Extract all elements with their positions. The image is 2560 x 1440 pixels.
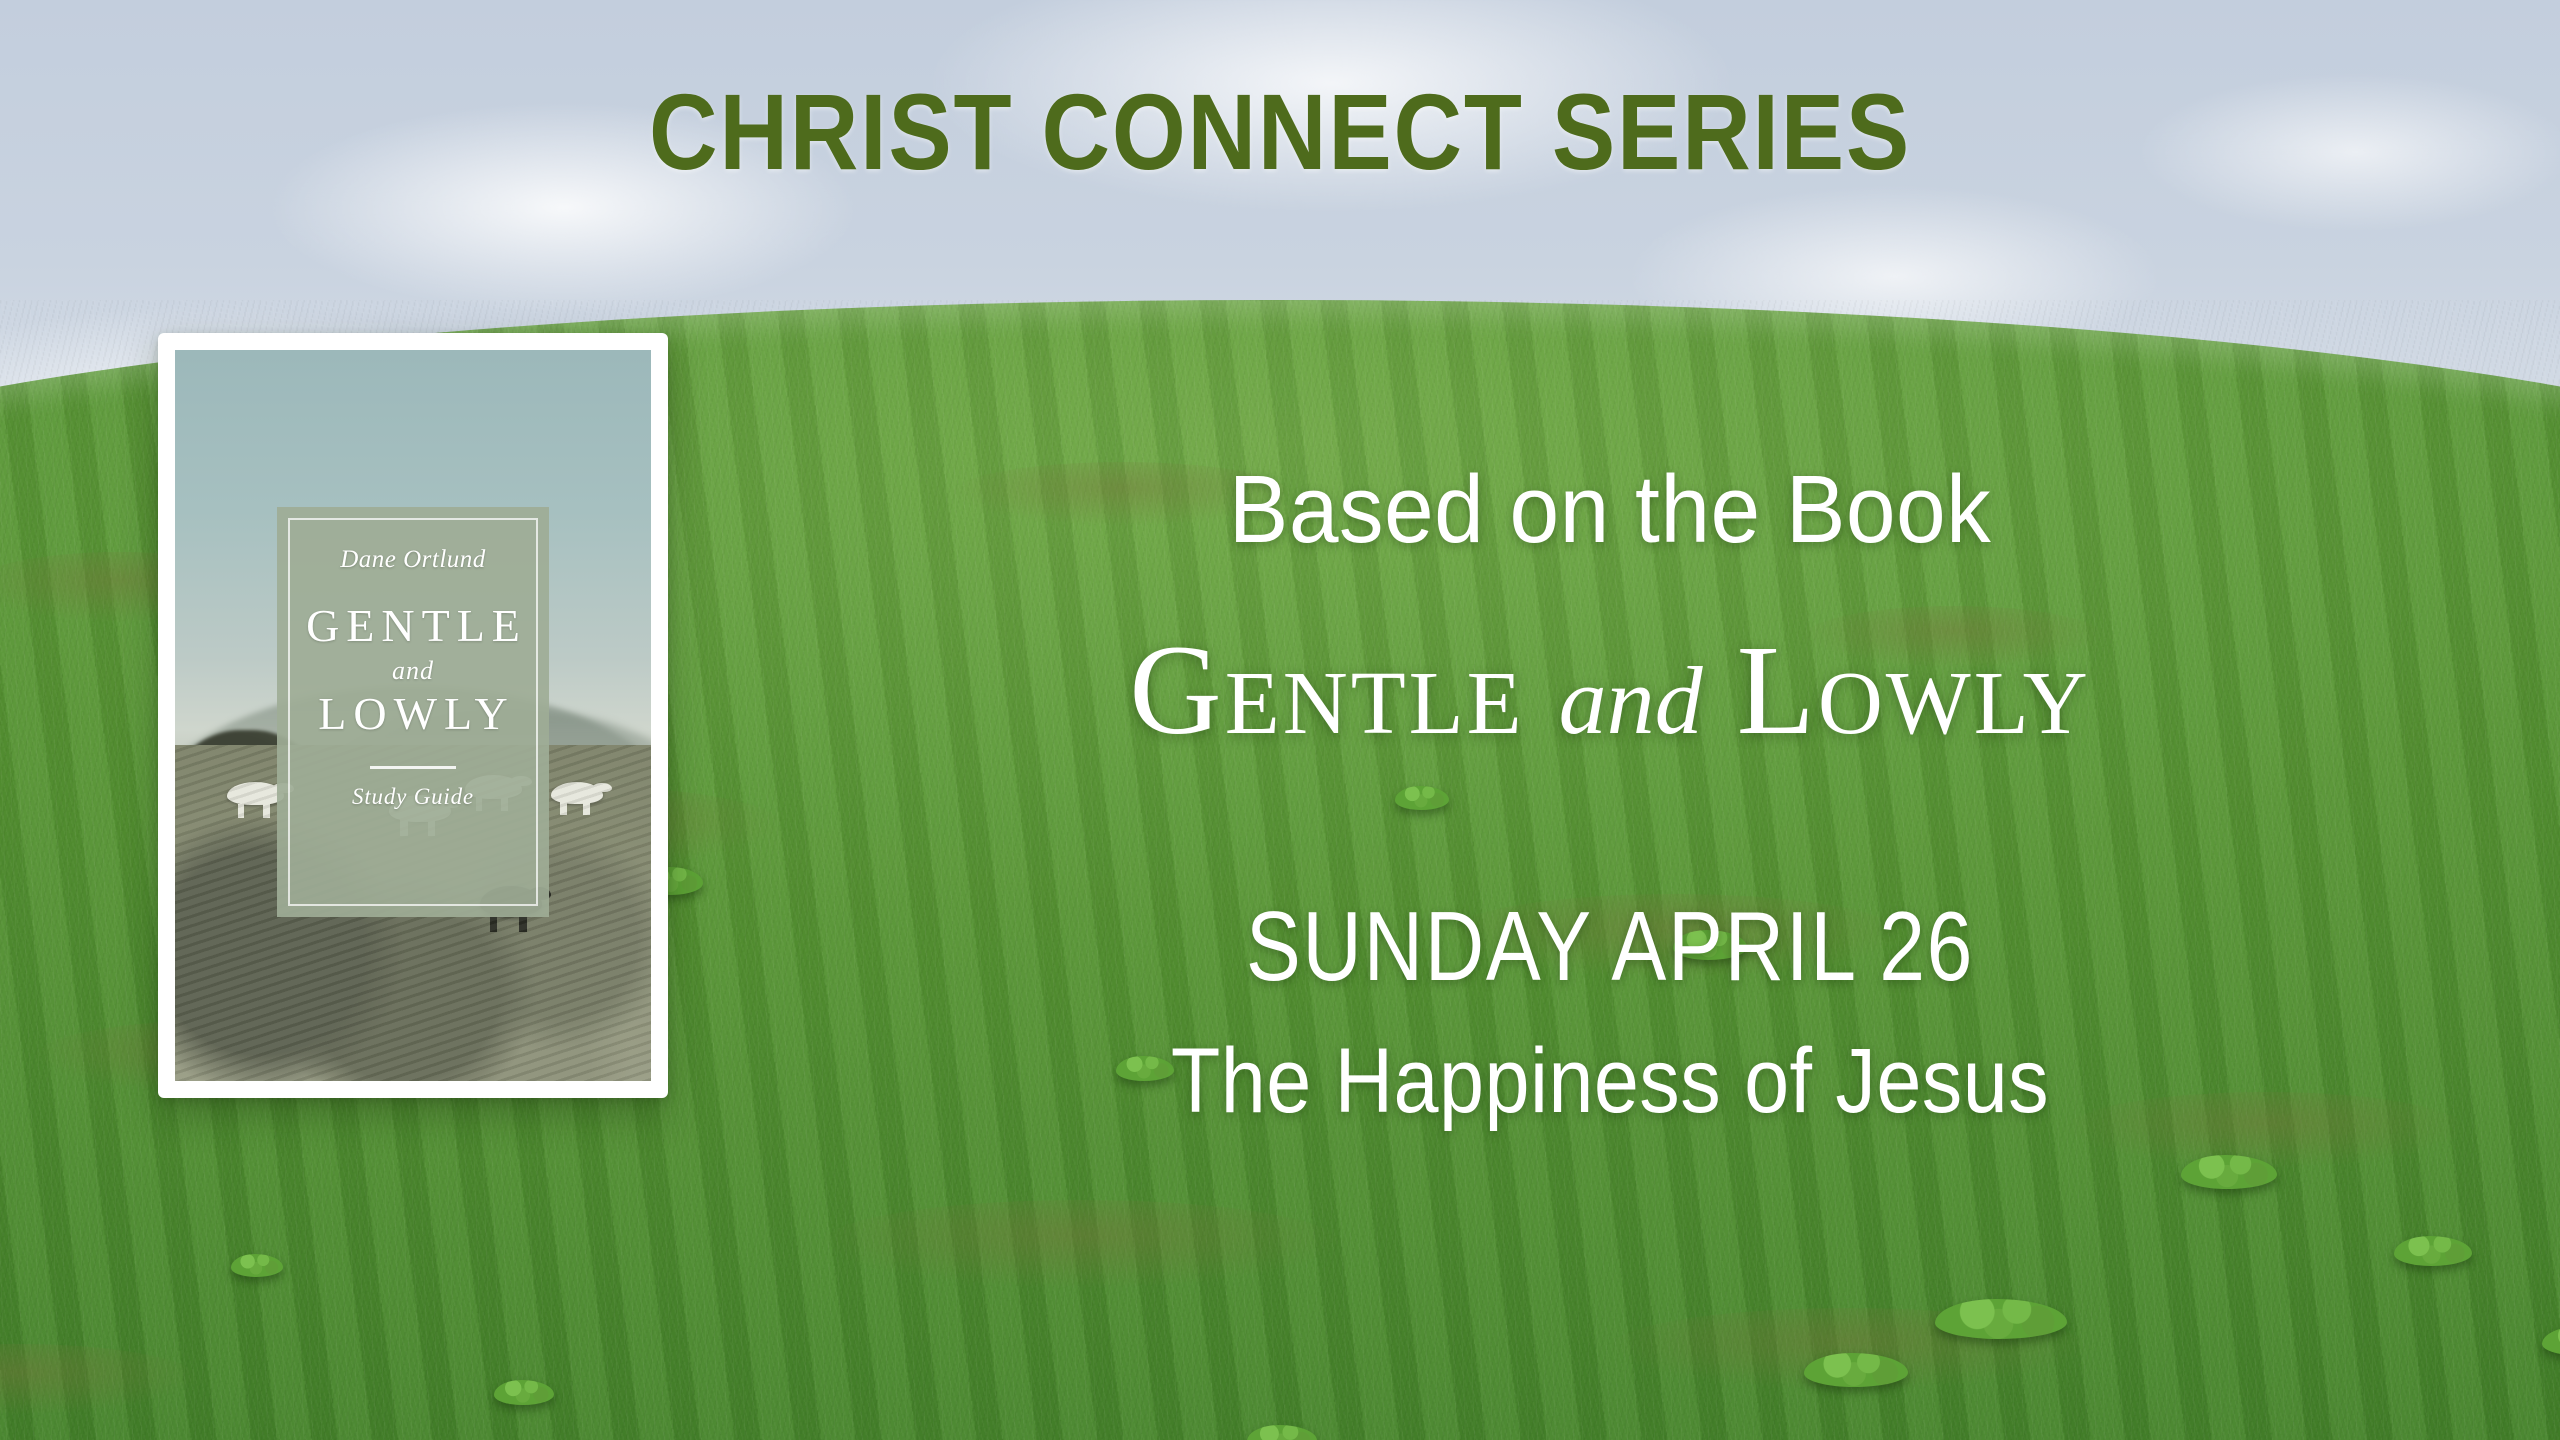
book-title-word-gentle: Gentle	[1129, 619, 1524, 761]
book-cover-title-line3: LOWLY	[311, 690, 514, 738]
book-title-display: GentleandLowly	[720, 617, 2500, 764]
weed-clump	[2181, 1155, 2277, 1189]
cover-sheep	[551, 782, 603, 804]
dirt-patch	[1608, 1308, 2088, 1390]
book-cover-artwork: Dane Ortlund GENTLE and LOWLY Study Guid…	[175, 350, 651, 1081]
book-cover: Dane Ortlund GENTLE and LOWLY Study Guid…	[158, 333, 668, 1098]
weed-clump	[231, 1254, 283, 1277]
book-cover-title-panel: Dane Ortlund GENTLE and LOWLY Study Guid…	[277, 507, 548, 916]
weed-clump	[2542, 1326, 2560, 1356]
book-cover-title-line1: GENTLE	[299, 602, 527, 650]
weed-clump	[1804, 1353, 1908, 1387]
main-text-block: Based on the Book GentleandLowly SUNDAY …	[720, 460, 2500, 1134]
weed-clump	[2394, 1236, 2472, 1266]
based-on-label: Based on the Book	[782, 460, 2437, 561]
book-cover-author: Dane Ortlund	[340, 546, 486, 574]
book-cover-divider	[370, 766, 456, 769]
event-date: SUNDAY APRIL 26	[862, 890, 2357, 1003]
book-cover-title-line2: and	[392, 656, 434, 686]
weed-clump	[494, 1380, 554, 1405]
book-title-word-lowly: Lowly	[1737, 619, 2091, 761]
weed-clump	[1247, 1425, 1317, 1440]
event-topic: The Happiness of Jesus	[827, 1029, 2393, 1134]
promo-slide: CHRIST CONNECT SERIES	[0, 0, 2560, 1440]
dirt-patch	[821, 1200, 1341, 1288]
dirt-patch	[0, 1344, 198, 1414]
page-title: CHRIST CONNECT SERIES	[154, 78, 2407, 186]
weed-clump	[1935, 1299, 2067, 1339]
book-title-conjunction: and	[1559, 647, 1703, 754]
book-cover-subtitle: Study Guide	[352, 784, 474, 810]
cover-sheep	[227, 782, 284, 806]
